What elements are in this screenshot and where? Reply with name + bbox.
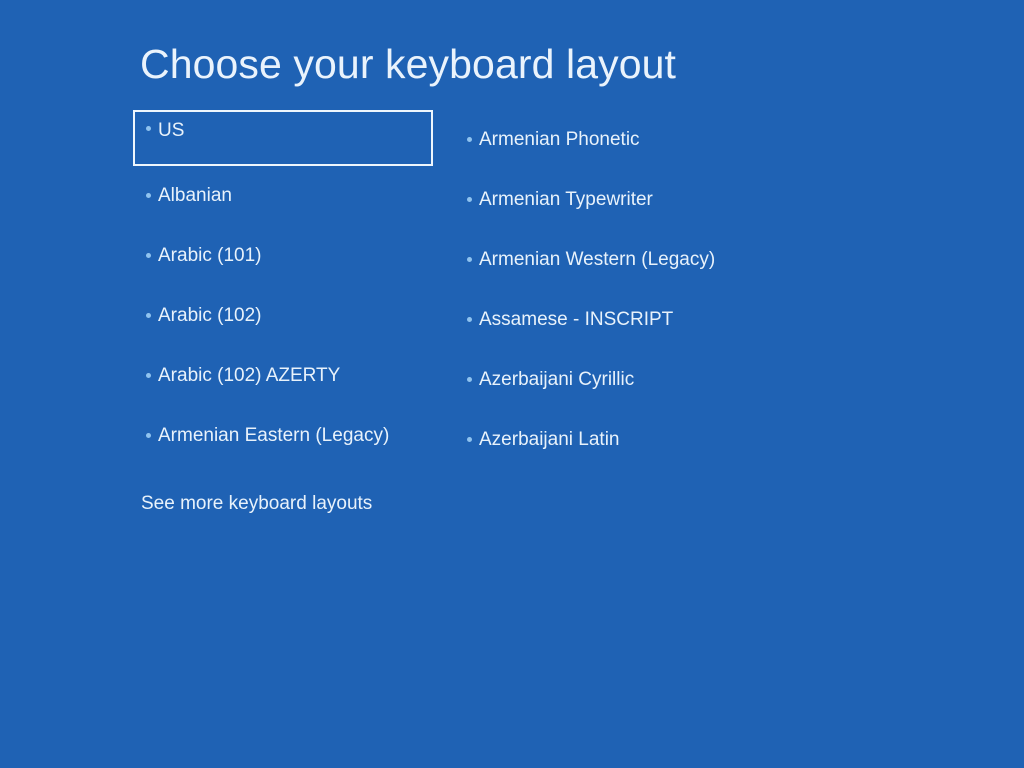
bullet-dot-icon	[146, 373, 151, 378]
layout-column-right: Armenian PhoneticArmenian TypewriterArme…	[462, 110, 792, 470]
keyboard-layout-option-label: Albanian	[158, 184, 232, 208]
bullet-dot-icon	[467, 317, 472, 322]
keyboard-layout-option-label: Armenian Typewriter	[479, 188, 653, 212]
keyboard-layout-option[interactable]: Arabic (101)	[133, 226, 433, 286]
keyboard-layout-screen: Choose your keyboard layout USAlbanianAr…	[0, 0, 1024, 768]
bullet-dot-icon	[146, 253, 151, 258]
keyboard-layout-option-label: Azerbaijani Cyrillic	[479, 368, 634, 392]
bullet-dot-icon	[467, 377, 472, 382]
keyboard-layout-option-label: Armenian Western (Legacy)	[479, 248, 715, 272]
keyboard-layout-option[interactable]: Arabic (102)	[133, 286, 433, 346]
bullet-dot-icon	[467, 437, 472, 442]
keyboard-layout-option-label: Azerbaijani Latin	[479, 428, 619, 452]
layout-column-left: USAlbanianArabic (101)Arabic (102)Arabic…	[133, 110, 433, 466]
bullet-dot-icon	[146, 193, 151, 198]
bullet-dot-icon	[146, 126, 151, 131]
keyboard-layout-option[interactable]: Armenian Eastern (Legacy)	[133, 406, 433, 466]
keyboard-layout-option-label: Armenian Eastern (Legacy)	[158, 424, 389, 448]
keyboard-layout-option[interactable]: Armenian Phonetic	[462, 110, 792, 170]
keyboard-layout-option-label: Assamese - INSCRIPT	[479, 308, 673, 332]
bullet-dot-icon	[146, 433, 151, 438]
keyboard-layout-option[interactable]: Arabic (102) AZERTY	[133, 346, 433, 406]
keyboard-layout-option-label: Arabic (102) AZERTY	[158, 364, 340, 388]
keyboard-layout-option-label: Armenian Phonetic	[479, 128, 640, 152]
bullet-dot-icon	[467, 197, 472, 202]
bullet-dot-icon	[467, 257, 472, 262]
bullet-dot-icon	[146, 313, 151, 318]
keyboard-layout-option-label: Arabic (102)	[158, 304, 262, 328]
keyboard-layout-option[interactable]: Armenian Western (Legacy)	[462, 230, 792, 290]
keyboard-layout-option-label: US	[158, 119, 184, 143]
page-title: Choose your keyboard layout	[140, 38, 676, 90]
keyboard-layout-option[interactable]: Albanian	[133, 166, 433, 226]
keyboard-layout-option[interactable]: US	[133, 110, 433, 166]
keyboard-layout-option[interactable]: Assamese - INSCRIPT	[462, 290, 792, 350]
bullet-dot-icon	[467, 137, 472, 142]
keyboard-layout-option[interactable]: Azerbaijani Cyrillic	[462, 350, 792, 410]
keyboard-layout-option[interactable]: Azerbaijani Latin	[462, 410, 792, 470]
keyboard-layout-option-label: Arabic (101)	[158, 244, 262, 268]
keyboard-layout-option[interactable]: Armenian Typewriter	[462, 170, 792, 230]
see-more-keyboard-layouts-link[interactable]: See more keyboard layouts	[141, 492, 372, 516]
